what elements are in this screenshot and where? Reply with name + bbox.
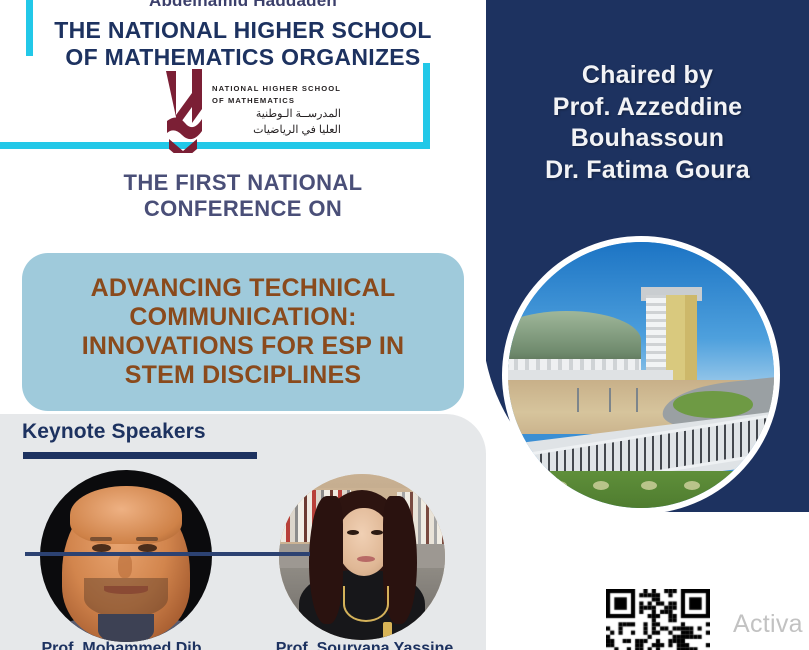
- speaker-1-nose: [118, 554, 132, 578]
- speaker-1-eye-left: [92, 544, 111, 552]
- campus-lamp-3: [636, 388, 638, 412]
- nhsm-logo: NATIONAL HIGHER SCHOOL OF MATHEMATICS ال…: [163, 66, 333, 154]
- speaker-1-eye-right: [138, 544, 157, 552]
- chaired-by-label: Chaired by: [486, 60, 809, 92]
- speaker-2-necklace-pendant: [383, 622, 392, 638]
- speaker-name-2: Prof. Souryana Yassine: [243, 640, 486, 650]
- nhsm-logo-line-en-1: NATIONAL HIGHER SCHOOL: [212, 84, 341, 93]
- speaker-1-brow-left: [90, 537, 112, 541]
- speaker-1-brow-right: [136, 537, 158, 541]
- conference-poster: Abdelhamid Haddaden THE NATIONAL HIGHER …: [0, 0, 809, 650]
- chaired-by-block: Chaired by Prof. Azzeddine Bouhassoun Dr…: [486, 60, 809, 186]
- keynote-heading: Keynote Speakers: [22, 420, 206, 444]
- campus-lamp-1: [577, 388, 579, 412]
- conference-heading-line-2: CONFERENCE ON: [40, 196, 446, 222]
- qr-code-icon[interactable]: [606, 589, 710, 650]
- keynote-heading-underline: [23, 452, 257, 459]
- speaker-2-hair-left: [309, 496, 343, 624]
- activate-windows-watermark: Activa: [733, 610, 803, 639]
- cyan-bracket-vertical: [423, 63, 430, 149]
- nhsm-logo-line-ar-2: العليا في الرياضيات: [212, 124, 341, 137]
- chair-name-1b: Bouhassoun: [486, 123, 809, 155]
- campus-photo-ring: [502, 236, 780, 514]
- conference-heading-line-1: THE FIRST NATIONAL: [40, 170, 446, 196]
- nhsm-logo-line-en-2: OF MATHEMATICS: [212, 96, 341, 105]
- chair-name-1a: Prof. Azzeddine: [486, 92, 809, 124]
- nhsm-monogram-icon: [163, 67, 205, 153]
- organizer-heading-line-1: THE NATIONAL HIGHER SCHOOL: [10, 17, 476, 44]
- speaker-2-necklace-chain: [343, 586, 389, 622]
- conference-title-line-3: INNOVATIONS FOR ESP IN: [82, 332, 405, 361]
- campus-grass-upper: [673, 391, 753, 418]
- conference-title: ADVANCING TECHNICAL COMMUNICATION: INNOV…: [76, 274, 411, 391]
- horizontal-divider: [25, 552, 310, 556]
- nhsm-logo-text: NATIONAL HIGHER SCHOOL OF MATHEMATICS ال…: [212, 67, 341, 153]
- speaker-1-collar: [98, 614, 154, 642]
- right-column: Chaired by Prof. Azzeddine Bouhassoun Dr…: [486, 0, 809, 650]
- campus-lamp-2: [609, 388, 611, 412]
- conference-title-band: ADVANCING TECHNICAL COMMUNICATION: INNOV…: [22, 253, 464, 411]
- conference-heading: THE FIRST NATIONAL CONFERENCE ON: [40, 170, 446, 223]
- speaker-photo-1: [40, 470, 212, 642]
- conference-title-line-1: ADVANCING TECHNICAL: [82, 274, 405, 303]
- speaker-1-beard: [84, 578, 168, 618]
- speaker-2-lips: [357, 556, 375, 562]
- speaker-2-eye-left: [347, 530, 359, 535]
- nhsm-logo-line-ar-1: المدرســة الـوطنية: [212, 108, 341, 121]
- cut-off-top-text: Abdelhamid Haddaden: [0, 0, 486, 11]
- speaker-1-mouth: [104, 586, 148, 594]
- chair-name-2: Dr. Fatima Goura: [486, 155, 809, 187]
- speaker-name-1: Prof. Mohammed Dib: [0, 640, 243, 650]
- speaker-names-row: Prof. Mohammed Dib Prof. Souryana Yassin…: [0, 640, 486, 650]
- speaker-2-eye-right: [371, 530, 383, 535]
- campus-photo: [508, 242, 774, 508]
- speaker-1-scalp: [70, 486, 182, 544]
- campus-grass-lower: [508, 471, 774, 508]
- speaker-photo-2: [279, 474, 445, 640]
- conference-title-line-4: STEM DISCIPLINES: [82, 361, 405, 390]
- conference-title-line-2: COMMUNICATION:: [82, 303, 405, 332]
